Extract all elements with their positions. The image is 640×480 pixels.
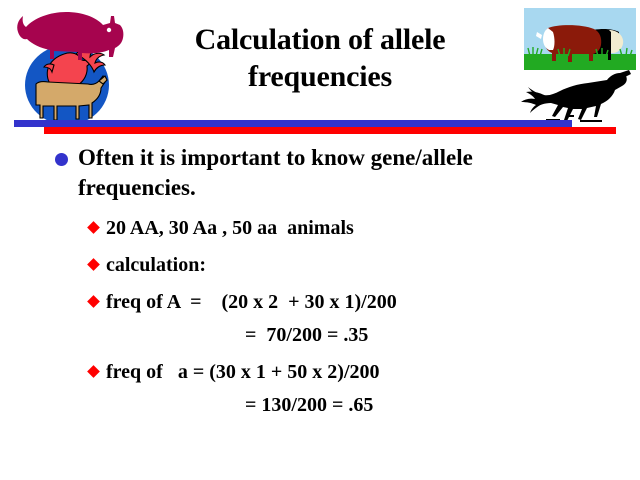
slide-body: Often it is important to know gene/allel…	[0, 143, 640, 418]
horse-svg	[516, 70, 636, 126]
title-line-1: Calculation of allele	[120, 22, 520, 59]
horse-icon	[521, 70, 631, 121]
diamond-bullet-icon	[87, 258, 100, 271]
galloping-horse-silhouette	[516, 70, 636, 126]
sub-bullet-label: freq of a = (30 x 1 + 50 x 2)/200	[106, 361, 380, 383]
divider-bar-red	[44, 127, 616, 134]
sub-bullet-label: 20 AA, 30 Aa , 50 aa animals	[106, 217, 354, 239]
divider-bar-blue	[14, 120, 572, 127]
page-title: Calculation of allele frequencies	[120, 22, 520, 95]
sub-bullet-label: freq of A = (20 x 2 + 30 x 1)/200	[106, 291, 397, 313]
logo-svg	[4, 2, 128, 130]
bullet-primary-label: Often it is important to know gene/allel…	[78, 145, 473, 170]
diamond-bullet-icon	[87, 365, 100, 378]
diamond-bullet-icon	[87, 295, 100, 308]
sub-bullet-label: calculation:	[106, 254, 206, 276]
bullet-item-primary: Often it is important to know gene/allel…	[0, 143, 640, 173]
sub-bullet-calculation-header: calculation:	[0, 252, 640, 278]
cattle-photo	[524, 8, 636, 70]
bullet-primary-wrap: frequencies.	[0, 173, 640, 203]
cattle-photo-svg	[524, 8, 636, 70]
disc-bullet-icon	[55, 153, 68, 166]
slide-header: Calculation of allele frequencies	[0, 0, 640, 132]
animal-science-logo	[4, 2, 128, 130]
title-line-2: frequencies	[120, 59, 520, 96]
sub-bullet-freq-a-uppercase: freq of A = (20 x 2 + 30 x 1)/200	[0, 289, 640, 315]
sub-bullet-genotype-counts: 20 AA, 30 Aa , 50 aa animals	[0, 215, 640, 241]
grass-band	[524, 54, 636, 70]
freq-a-uppercase-result: = 70/200 = .35	[0, 322, 640, 348]
sub-bullet-freq-a-lowercase: freq of a = (30 x 1 + 50 x 2)/200	[0, 359, 640, 385]
diamond-bullet-icon	[87, 221, 100, 234]
freq-a-lowercase-result: = 130/200 = .65	[0, 392, 640, 418]
